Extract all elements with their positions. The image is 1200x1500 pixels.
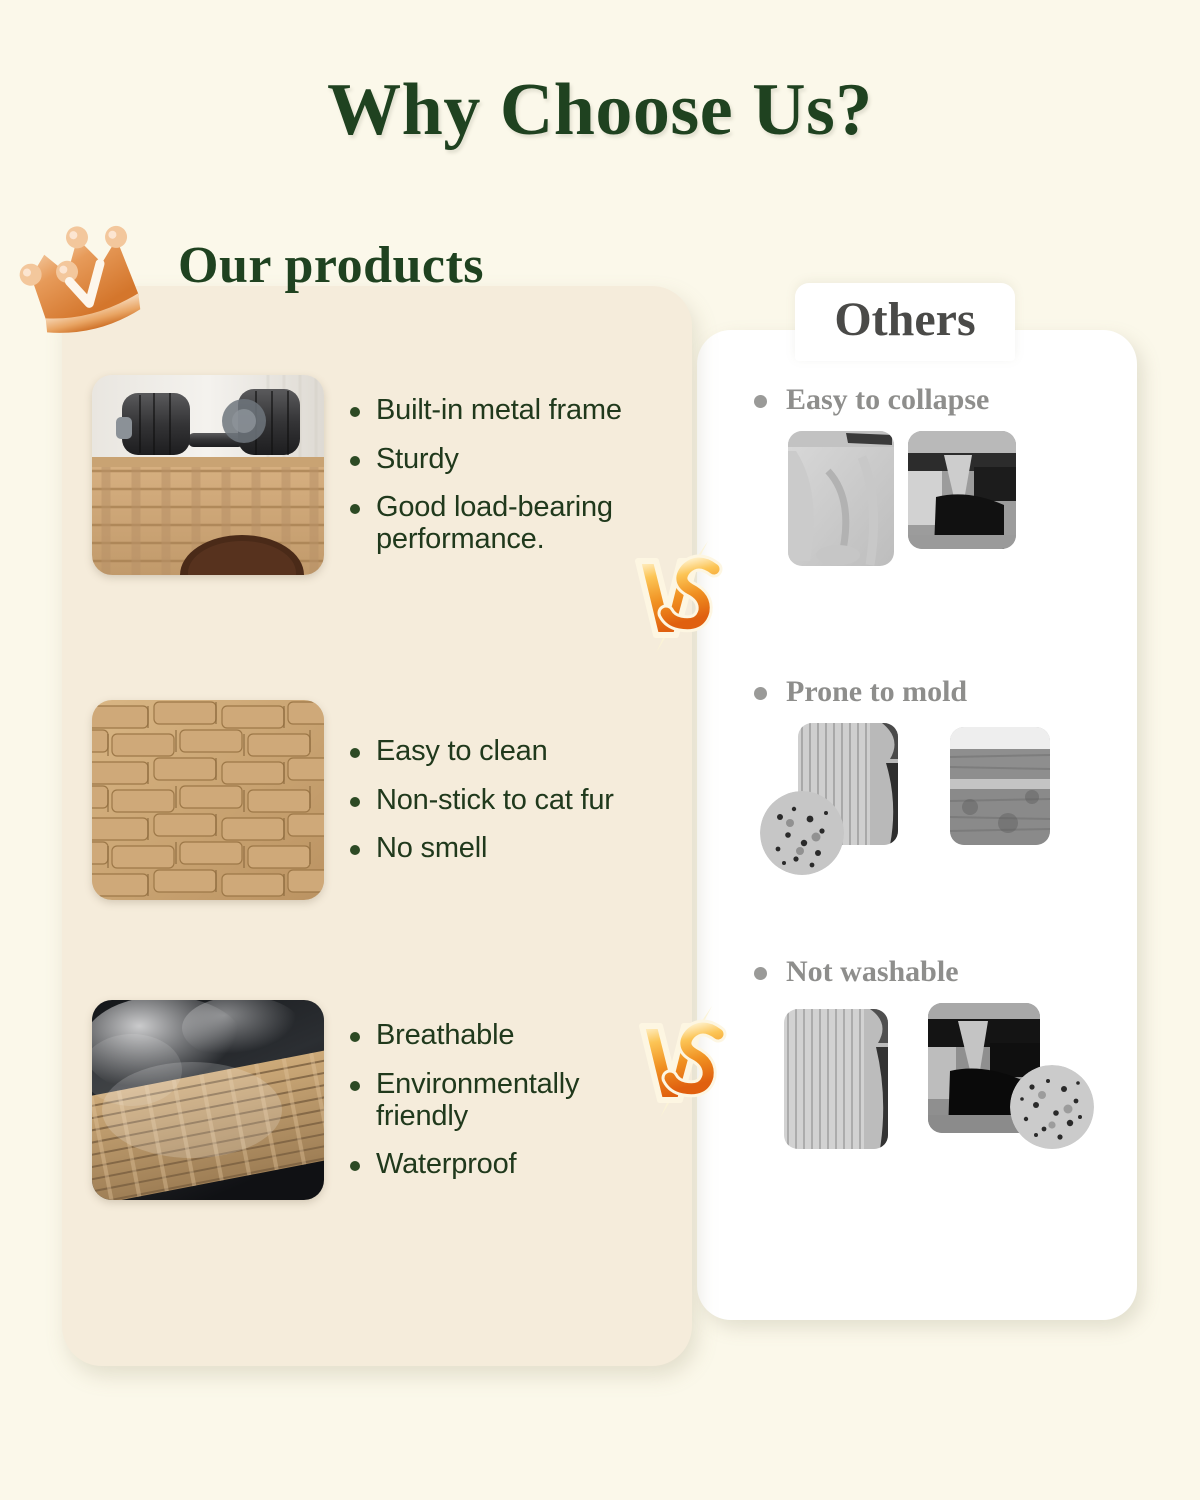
others-label-3: Not washable: [750, 955, 1110, 989]
vs-lightning-icon: [626, 1000, 736, 1120]
our-products-bullets-1: Built-in metal frame Sturdy Good load-be…: [348, 394, 672, 556]
our-products-bullets-3: Breathable Environmentally friendly Wate…: [348, 1019, 672, 1181]
rattan-weave-texture-photo: [92, 700, 324, 900]
steam-through-rattan-panel-photo: [92, 1000, 324, 1200]
infographic-root: Why Choose Us? Others: [0, 0, 1200, 1500]
list-item: Environmentally friendly: [348, 1068, 672, 1133]
others-label-2: Prone to mold: [750, 675, 1110, 709]
others-row-3: Not washable: [750, 955, 1110, 1153]
list-item: Non-stick to cat fur: [348, 784, 672, 816]
mold-spots-closeup-photo: [760, 791, 844, 875]
list-item: Waterproof: [348, 1148, 672, 1180]
others-images-2: [788, 723, 1110, 873]
crown-icon: [8, 212, 160, 342]
our-products-bullets-2: Easy to clean Non-stick to cat fur No sm…: [348, 735, 672, 864]
vs-lightning-icon: [622, 535, 732, 655]
list-item: No smell: [348, 832, 672, 864]
list-item: Built-in metal frame: [348, 394, 672, 426]
collapsed-fabric-basket-photo: [788, 431, 894, 566]
dumbbell-on-rattan-basket-photo: [92, 375, 324, 575]
our-products-row-2: Easy to clean Non-stick to cat fur No sm…: [92, 700, 672, 900]
our-products-row-3: Breathable Environmentally friendly Wate…: [92, 1000, 672, 1200]
ribbed-fabric-basket-photo: [784, 1009, 888, 1149]
our-products-heading: Our products: [178, 236, 484, 295]
our-products-row-1: Built-in metal frame Sturdy Good load-be…: [92, 375, 672, 575]
list-item: Sturdy: [348, 443, 672, 475]
others-images-1: [788, 431, 1110, 581]
others-row-2: Prone to mold: [750, 675, 1110, 873]
others-images-3: [788, 1003, 1110, 1153]
others-heading: Others: [795, 292, 1015, 347]
list-item: Breathable: [348, 1019, 672, 1051]
dirt-spots-closeup-photo: [1010, 1065, 1094, 1149]
moldy-surface-photo: [950, 727, 1050, 845]
crushed-fabric-basket-photo: [908, 431, 1016, 549]
page-title: Why Choose Us?: [0, 68, 1200, 153]
others-label-1: Easy to collapse: [750, 383, 1110, 417]
others-row-1: Easy to collapse: [750, 383, 1110, 581]
list-item: Easy to clean: [348, 735, 672, 767]
